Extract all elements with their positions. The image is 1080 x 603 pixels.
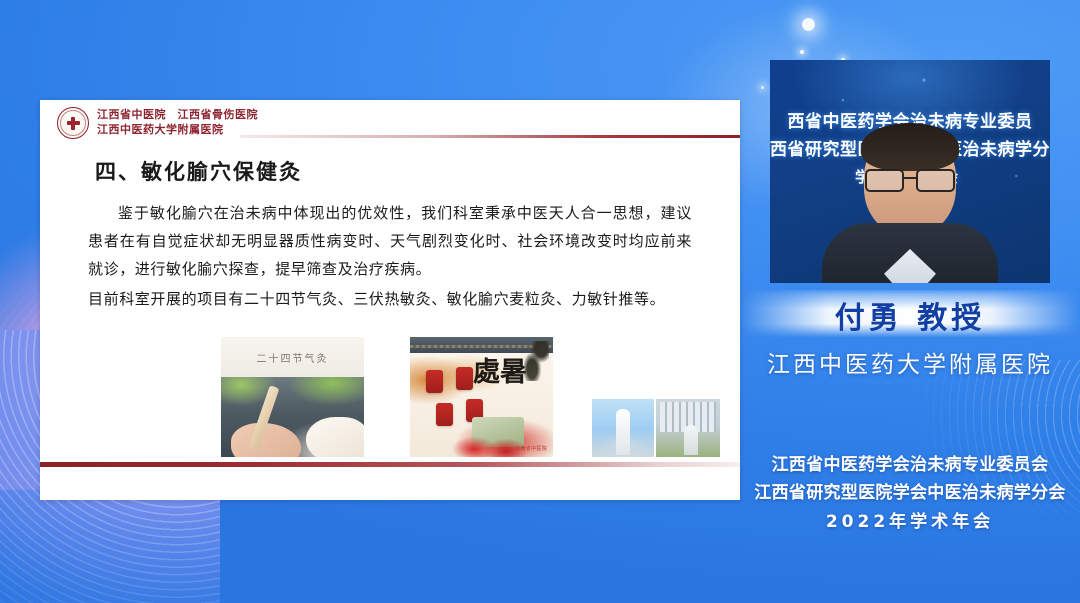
slide-header: 江西省中医院 江西省骨伤医院 江西中医药大学附属医院 [40, 100, 740, 142]
webinar-stage: 江西省中医院 江西省骨伤医院 江西中医药大学附属医院 四、敏化腧穴保健灸 鉴于敏… [0, 0, 1080, 603]
red-tag-shape [426, 370, 443, 393]
speaker-organization: 江西中医药大学附属医院 [740, 345, 1080, 379]
conference-title-block: 江西省中医药学会治未病专业委员会 江西省研究型医院学会中医治未病学分会 2022… [740, 450, 1080, 532]
header-divider [240, 135, 740, 138]
speaker-nameplate: 付勇 教授 江西中医药大学附属医院 [740, 290, 1080, 390]
photo-caption-banner: 二十四节气灸 [221, 337, 364, 377]
light-dot-small-icon [800, 50, 804, 54]
presentation-slide[interactable]: 江西省中医院 江西省骨伤医院 江西中医药大学附属医院 四、敏化腧穴保健灸 鉴于敏… [40, 100, 740, 500]
light-dot-small-icon [761, 86, 764, 89]
photo-chushu-poster: 處暑 江西省中医院 [410, 337, 553, 457]
hospital-emblem-icon [57, 107, 89, 139]
campus-building-photo [656, 399, 720, 457]
poster-watermark: 江西省中医院 [515, 445, 547, 452]
slide-footer-divider [40, 462, 740, 467]
red-tag-shape [456, 367, 473, 390]
red-tag-shape [436, 403, 453, 426]
glasses-icon [862, 169, 958, 189]
cloth-shape [306, 417, 364, 457]
hospital-name-line-2: 江西中医药大学附属医院 [97, 123, 258, 137]
speaker-video-feed[interactable]: 西省中医药学会治未病专业委员 西省研究型医院学会中医治未病学分 学 会 2022… [770, 60, 1050, 283]
slide-paragraph-1: 鉴于敏化腧穴在治未病中体现出的优效性，我们科室秉承中医天人合一思想，建议患者在有… [88, 199, 692, 283]
poster-title-text: 處暑 [473, 359, 527, 386]
slide-title: 四、敏化腧穴保健灸 [95, 156, 740, 186]
speaker-figure [822, 129, 998, 283]
speaker-name: 付勇 教授 [740, 293, 1080, 337]
light-dot-large-icon [802, 18, 815, 31]
speaker-hair [861, 123, 959, 171]
speaker-collar [884, 249, 936, 283]
hand-shape [231, 423, 301, 457]
photo-hospital-campus [592, 399, 720, 457]
conference-line-2: 江西省研究型医院学会中医治未病学分会 [740, 478, 1080, 503]
slide-paragraph-2: 目前科室开展的项目有二十四节气灸、三伏热敏灸、敏化腧穴麦粒灸、力敏针推等。 [88, 285, 692, 313]
photo-scene [221, 377, 364, 457]
campus-monument-photo [592, 399, 654, 457]
photo-caption-text: 二十四节气灸 [257, 350, 329, 365]
hospital-name-line-1: 江西省中医院 江西省骨伤医院 [97, 108, 258, 122]
slide-body: 鉴于敏化腧穴在治未病中体现出的优效性，我们科室秉承中医天人合一思想，建议患者在有… [88, 199, 692, 313]
slide-header-text: 江西省中医院 江西省骨伤医院 江西中医药大学附属医院 [97, 108, 258, 137]
speaker-torso [822, 223, 998, 283]
slide-photo-group: 二十四节气灸 處暑 江西省中医院 [40, 337, 740, 462]
conference-line-1: 江西省中医药学会治未病专业委员会 [740, 450, 1080, 475]
conference-line-3: 2022年学术年会 [740, 507, 1080, 532]
photo-ershisi-jieqi-jiu: 二十四节气灸 [221, 337, 364, 457]
